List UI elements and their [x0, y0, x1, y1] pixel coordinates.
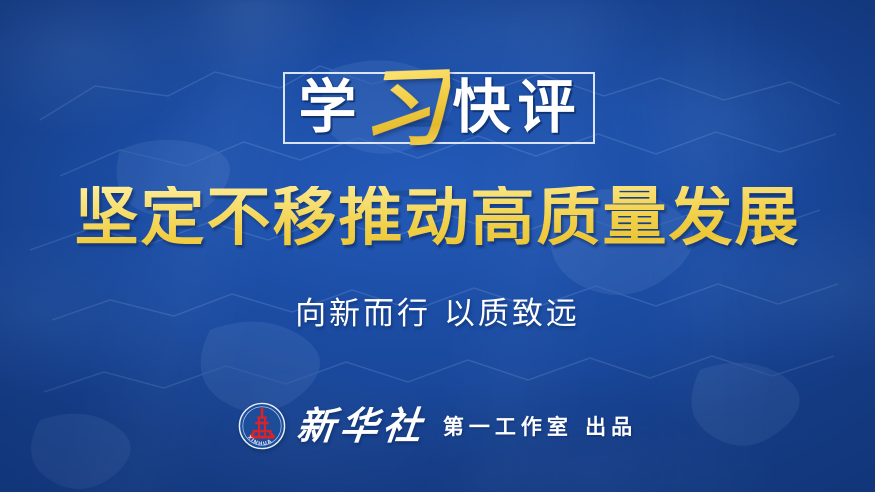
- masthead-char-ping: 评: [515, 78, 580, 136]
- masthead-char-xue: 学: [295, 78, 360, 136]
- footer: XINHUA 新华社 第一工作室 出品: [0, 398, 875, 454]
- masthead: 学 习 快 评: [0, 52, 875, 162]
- agency-name-text: 新华社: [295, 407, 428, 445]
- xinhua-tower-logo-icon: XINHUA: [238, 402, 286, 450]
- masthead-char-xi-gold: 习: [357, 64, 453, 153]
- masthead-char-kuai: 快: [449, 78, 514, 136]
- headline-text: 坚定不移推动高质量发展: [0, 186, 875, 250]
- studio-credit-text: 第一工作室 出品: [443, 416, 637, 437]
- masthead-characters: 学 习 快 评: [0, 52, 875, 162]
- poster-canvas: 学 习 快 评 坚定不移推动高质量发展 向新而行 以质致远: [0, 0, 875, 492]
- subtitle-text: 向新而行 以质致远: [0, 299, 875, 330]
